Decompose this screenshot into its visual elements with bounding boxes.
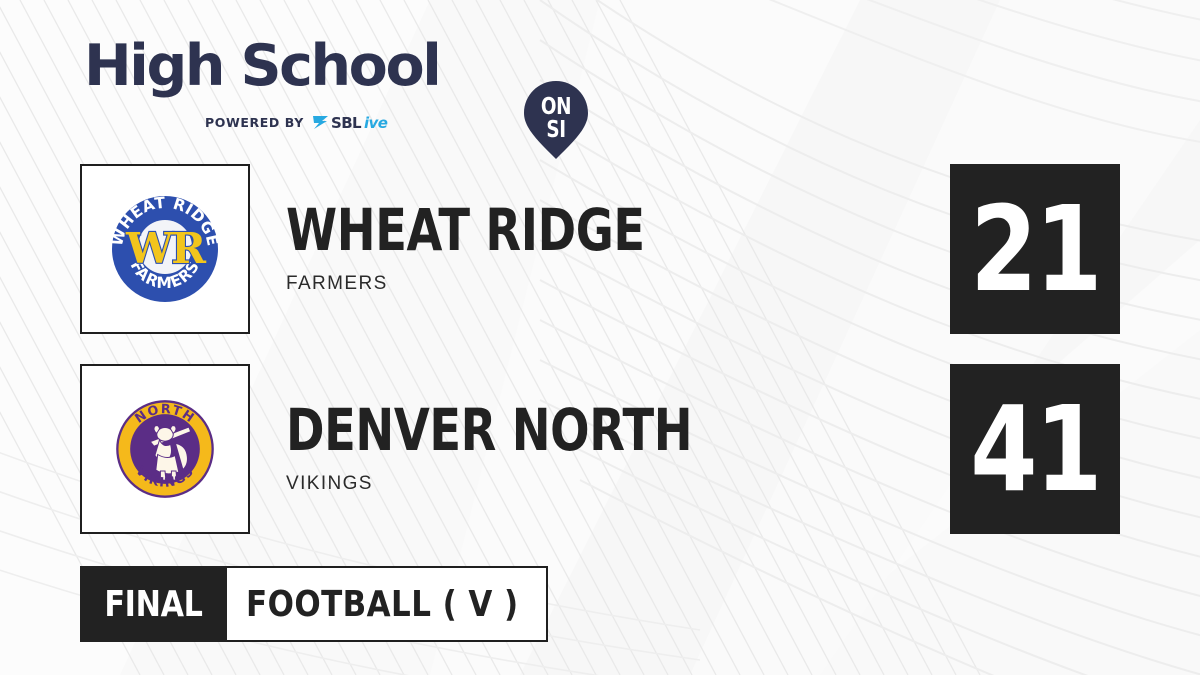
team-logo-box: NORTH VIKINGS — [80, 364, 250, 534]
svg-text:SBL: SBL — [331, 114, 362, 132]
team-text-block: WHEAT RIDGE FARMERS — [286, 164, 734, 334]
team-row: NORTH VIKINGS DENVER NORTH VIKINGS 41 — [80, 364, 1120, 534]
denver-north-vikings-logo-icon: NORTH VIKINGS — [110, 394, 220, 504]
team-row: WHEAT RIDGE FARMERS WR WHEAT RIDGE FARME… — [80, 164, 1120, 334]
team-text-block: DENVER NORTH VIKINGS — [286, 364, 794, 534]
powered-by-row: POWERED BY SBL ive — [205, 112, 421, 132]
svg-text:SI: SI — [546, 116, 565, 143]
svg-text:WR: WR — [125, 224, 207, 273]
team-name: DENVER NORTH — [286, 403, 692, 459]
team-score-box: 41 — [950, 364, 1120, 534]
team-score-box: 21 — [950, 164, 1120, 334]
game-state-badge: FINAL — [80, 566, 227, 642]
sblive-logo-icon: SBL ive — [311, 112, 421, 132]
team-score: 21 — [970, 190, 1100, 308]
team-mascot: VIKINGS — [286, 473, 794, 495]
team-score: 41 — [970, 390, 1100, 508]
team-logo-box: WHEAT RIDGE FARMERS WR — [80, 164, 250, 334]
game-state-label: FINAL — [104, 584, 202, 625]
svg-text:ive: ive — [364, 114, 388, 132]
brand-wordmark: High School — [84, 38, 439, 95]
sport-label-block: FOOTBALL ( V ) — [227, 566, 548, 642]
game-status-bar: FINAL FOOTBALL ( V ) — [80, 566, 548, 642]
team-mascot: FARMERS — [286, 273, 734, 295]
sport-label: FOOTBALL ( V ) — [246, 584, 519, 625]
on-si-pin-icon: ON SI — [518, 78, 594, 162]
team-name: WHEAT RIDGE — [286, 203, 645, 259]
scorecard-stage: High School ON SI POWERED BY SBL ive — [0, 0, 1200, 675]
wheat-ridge-farmers-logo-icon: WHEAT RIDGE FARMERS WR — [105, 189, 225, 309]
powered-by-label: POWERED BY — [205, 115, 304, 130]
brand-lockup: High School ON SI POWERED BY SBL ive — [84, 36, 504, 134]
